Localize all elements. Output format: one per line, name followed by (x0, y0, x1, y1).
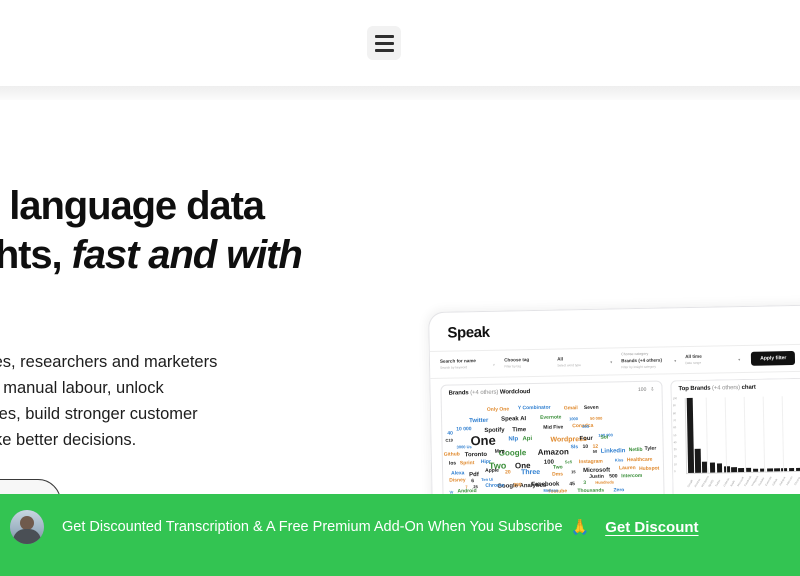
subcopy-line-2: k to reduce manual labour, unlock (0, 379, 164, 397)
headline-line-2-emphasis: fast and with (72, 233, 302, 277)
bar-chart-bar[interactable] (789, 468, 795, 471)
filter-word-type[interactable]: All Select word type (557, 356, 601, 369)
wordcloud-word[interactable]: Sls (571, 445, 579, 450)
promo-banner: Get Discounted Transcription & A Free Pr… (0, 494, 800, 576)
wordcloud-word[interactable]: Kiss (615, 458, 624, 462)
bar-chart-y-tick: 10 (674, 463, 677, 466)
chevron-down-icon-category[interactable]: ▾ (674, 358, 676, 363)
bar-chart-x-tick: Github (772, 478, 779, 486)
panel-wordcloud: Brands (+4 others) Wordcloud 100 ⇩ OneGo… (440, 381, 664, 505)
wordcloud-word[interactable]: C19 (445, 439, 452, 443)
wordcloud-word[interactable]: Netlib (629, 448, 643, 453)
site-header: k (0, 0, 800, 86)
wordcloud-word[interactable]: Amazon (538, 448, 569, 457)
wordcloud-word[interactable]: Github (444, 452, 460, 457)
filter-category[interactable]: Choose category Brands (+4 others) Filte… (621, 352, 665, 370)
wordcloud-canvas: OneGoogleAmazonTwoOneWordpressGoogle Ana… (442, 395, 664, 495)
chevron-down-icon-date[interactable]: ▾ (738, 357, 740, 362)
headline-line-2: nsights, fast and with (0, 231, 387, 280)
bar-chart-bar[interactable] (717, 463, 723, 473)
panel-top-brands-title-muted: (+4 others) (710, 385, 741, 392)
wordcloud-word[interactable]: Hipr (481, 460, 491, 465)
bar-chart-bar[interactable] (760, 468, 766, 472)
subcopy-line-3: e advantages, build stronger customer (0, 405, 198, 423)
headline-line-3: de. (0, 280, 387, 329)
wordcloud-word[interactable]: Seven (584, 406, 599, 411)
wordcloud-word[interactable]: 1000 (569, 417, 578, 421)
panel-wordcloud-title-tail: Wordcloud (500, 389, 530, 396)
wordcloud-word[interactable]: 50 000 (590, 417, 602, 421)
wordcloud-word[interactable]: Tyler (645, 447, 657, 452)
hamburger-bar-2 (375, 42, 394, 45)
bar-chart-bar[interactable] (731, 467, 737, 472)
bar-chart-y-tick: 30 (674, 448, 677, 451)
search-icon: ⌕ (493, 361, 495, 366)
bar-chart-x-tick: Intercom (786, 476, 794, 486)
wordcloud-word[interactable]: Instagram (579, 460, 603, 465)
bar-chart-x-tick: Spotify (708, 479, 715, 487)
panel-top-brands-title-tail: chart (742, 385, 756, 391)
wordcloud-word[interactable]: Justin (589, 475, 604, 480)
wordcloud-word[interactable]: Hubspot (639, 467, 659, 472)
bar-chart-bar[interactable] (774, 469, 780, 472)
bar-chart-bar[interactable] (695, 449, 701, 473)
bar-chart-x-tick: Chrome (793, 477, 800, 486)
wordcloud-word[interactable]: 500 (609, 474, 617, 479)
wordcloud-word[interactable]: Toronto (465, 452, 487, 458)
filter-word-type-sub: Select word type (557, 363, 601, 369)
avatar-head (20, 516, 34, 530)
wordcloud-word[interactable]: Sprint (460, 461, 475, 466)
header-divider (0, 86, 800, 100)
wordcloud-word[interactable]: Ten Ui (481, 478, 493, 482)
bar-chart-bar[interactable] (724, 466, 730, 473)
wordcloud-word[interactable]: 20 (505, 470, 511, 475)
wordcloud-word[interactable]: Api (522, 436, 532, 442)
wordcloud-word[interactable]: Melissa (543, 489, 558, 493)
page-title: your language data nsights, fast and wit… (0, 182, 387, 328)
wordcloud-word[interactable]: Alexa (451, 471, 464, 476)
panel-wordcloud-tools: 100 ⇩ (638, 387, 655, 393)
bar-chart-y-tick: 20 (674, 456, 677, 459)
wordcloud-word[interactable]: Dms (552, 472, 563, 477)
wordcloud-word[interactable]: Sc5 (565, 460, 572, 464)
bar-chart-y-tick: 80 (673, 412, 676, 415)
panel-wordcloud-title: Brands (+4 others) Wordcloud (449, 389, 531, 397)
bar-chart-bar[interactable] (796, 468, 800, 471)
chevron-down-icon-wordtype[interactable]: ▾ (610, 359, 612, 364)
download-icon[interactable]: ⇩ (650, 387, 654, 393)
panel-wordcloud-title-muted: (+4 others) (469, 390, 500, 397)
wordcloud-word[interactable]: Twitter (469, 418, 488, 424)
wordcloud-word[interactable]: 40 (447, 432, 453, 437)
wordcloud-word[interactable]: Disney (449, 478, 465, 483)
wordcloud-word[interactable]: Three (521, 469, 540, 476)
panel-wordcloud-title-bold: Brands (449, 390, 469, 396)
subcopy-line-4: ps and make better decisions. (0, 431, 136, 449)
apply-filter-button[interactable]: Apply filter (751, 351, 795, 366)
bar-chart-y-tick: 90 (673, 405, 676, 408)
dashboard-filter-bar: Search for name Search by keyword ⌕ Choo… (430, 343, 800, 379)
wordcloud-word[interactable]: Healthcare (627, 458, 653, 463)
bar-chart-bar[interactable] (753, 468, 759, 472)
bar-chart-bar[interactable] (710, 462, 716, 473)
hamburger-menu-icon[interactable] (367, 26, 401, 60)
avatar-body (13, 529, 41, 544)
filter-date-range-sub: Date range (685, 360, 729, 366)
wordcloud-word[interactable]: Zero (613, 488, 624, 493)
filter-category-sub: Filter by insight category (621, 364, 665, 370)
bar-chart-y-tick: 50 (673, 434, 676, 437)
headline-line-1: your language data (0, 182, 387, 231)
panel-top-brands-title-bold: Top Brands (678, 386, 710, 393)
bar-chart-y-tick: 0 (674, 470, 676, 473)
bar-chart-bar[interactable] (767, 468, 773, 472)
wordcloud-word[interactable]: Nlp (508, 436, 518, 442)
wordcloud-word[interactable]: Only One (487, 407, 509, 412)
filter-choose-tag-sub: Filter by tag (504, 364, 548, 370)
dashboard-app-title: Speak (447, 324, 490, 342)
panel-top-brands: Top Brands (+4 others) chart 10090807060… (670, 377, 800, 501)
wordcloud-word[interactable]: 45 (569, 482, 575, 487)
hero-copy: your language data nsights, fast and wit… (0, 182, 387, 525)
wordcloud-word[interactable]: One (470, 434, 496, 447)
wordcloud-word[interactable]: 10 000 (456, 427, 471, 432)
wordcloud-word[interactable]: Spotify (484, 428, 504, 434)
wordcloud-word[interactable]: Chrome (485, 484, 504, 489)
panel-top-brands-title: Top Brands (+4 others) chart (678, 385, 755, 392)
hamburger-bar-3 (375, 49, 394, 52)
praying-hands-icon: 🙏 (571, 518, 590, 536)
filter-search-name[interactable]: Search for name Search by keyword (440, 358, 484, 371)
wordcloud-word[interactable]: Time (512, 427, 526, 433)
wordcloud-word[interactable]: 15 (571, 470, 576, 474)
wordcloud-word[interactable]: Ios (449, 461, 456, 466)
wordcloud-word[interactable]: 50 (593, 450, 598, 454)
hero-subcopy: + companies, researchers and marketers k… (0, 350, 387, 453)
get-discount-link[interactable]: Get Discount (605, 519, 698, 536)
wordcloud-word[interactable]: Mid Five (543, 425, 563, 430)
wordcloud-word[interactable]: Hundreds (595, 480, 614, 484)
headline-line-2-plain: nsights, (0, 233, 72, 277)
wordcloud-word[interactable]: Evernote (540, 415, 561, 420)
wordcloud-word[interactable]: Apple (485, 469, 499, 474)
wordcloud-word[interactable]: Four (579, 436, 592, 442)
hamburger-bar-1 (375, 35, 394, 38)
wordcloud-word[interactable]: Speak AI (501, 416, 526, 422)
wordcloud-word[interactable]: 200 (513, 483, 521, 488)
wordcloud-word[interactable]: Lauren (619, 466, 636, 471)
bar-chart-y-tick: 70 (673, 419, 676, 422)
filter-search-name-sub: Search by keyword (440, 365, 484, 371)
wordcloud-word[interactable]: 300 (582, 425, 589, 429)
bar-chart-y-tick: 100 (673, 397, 677, 400)
page-root: k your language data nsights, fast and w… (0, 0, 800, 576)
bar-chart-bar[interactable] (738, 468, 744, 473)
bar-chart-x-tick: Google (687, 479, 694, 488)
bar-chart-x-tick: Apple (729, 480, 735, 487)
wordcloud-word[interactable]: 3 (583, 481, 586, 486)
bar-chart-y-tick: 60 (673, 426, 676, 429)
wordcloud-word[interactable]: Gmail (564, 406, 578, 411)
bar-chart-bar[interactable] (687, 398, 694, 473)
bar-chart-x-tick: Linkedin (722, 477, 730, 487)
wordcloud-word[interactable]: 10 (583, 445, 589, 450)
wordcloud-count-label[interactable]: 100 (638, 387, 646, 393)
bar-chart-x-tick: Youtube (758, 477, 765, 487)
avatar (10, 510, 44, 544)
filter-choose-tag[interactable]: Choose tag Filter by tag (504, 357, 548, 370)
wordcloud-word[interactable]: Mvp (495, 450, 505, 455)
wordcloud-word[interactable]: Two (553, 465, 563, 470)
wordcloud-word[interactable]: 3000 Us (457, 445, 472, 449)
wordcloud-word[interactable]: Linkedin (601, 448, 626, 454)
top-brands-bar-chart: 1009080706050403020100GoogleAmazonWordpr… (672, 391, 800, 491)
subcopy-line-1: + companies, researchers and marketers (0, 353, 217, 371)
bar-chart-bar[interactable] (746, 468, 752, 473)
filter-date-range[interactable]: All time Date range (685, 353, 729, 366)
promo-message: Get Discounted Transcription & A Free Pr… (62, 519, 563, 535)
bar-chart-x-tick: Twitter (715, 479, 721, 487)
bar-chart-y-tick: 40 (674, 441, 677, 444)
wordcloud-word[interactable]: Sol (600, 436, 608, 441)
wordcloud-word[interactable]: Y Combinator (518, 406, 551, 412)
wordcloud-word[interactable]: Intercom (621, 474, 642, 479)
